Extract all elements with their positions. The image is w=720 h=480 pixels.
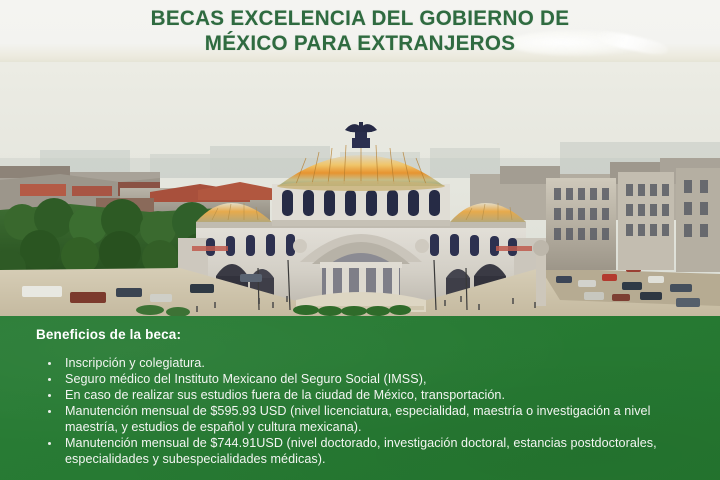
list-item: Seguro médico del Instituto Mexicano del… xyxy=(46,372,696,388)
flyer-header: BECAS EXCELENCIA DEL GOBIERNO DE MÉXICO … xyxy=(0,0,720,62)
page-title: BECAS EXCELENCIA DEL GOBIERNO DE MÉXICO … xyxy=(0,6,720,56)
list-item: En caso de realizar sus estudios fuera d… xyxy=(46,388,696,404)
title-line-2: MÉXICO PARA EXTRANJEROS xyxy=(14,31,705,56)
title-line-1: BECAS EXCELENCIA DEL GOBIERNO DE xyxy=(14,6,705,31)
scholarship-flyer: BECAS EXCELENCIA DEL GOBIERNO DE MÉXICO … xyxy=(0,0,720,480)
list-item: Manutención mensual de $595.93 USD (nive… xyxy=(46,404,696,435)
photo-illustration xyxy=(0,62,720,316)
palacio-bellas-artes-photo xyxy=(0,62,720,316)
list-item: Inscripción y colegiatura. xyxy=(46,356,696,372)
benefits-heading: Beneficios de la beca: xyxy=(36,327,181,342)
benefits-list: Inscripción y colegiatura. Seguro médico… xyxy=(46,356,696,468)
list-item: Manutención mensual de $744.91USD (nivel… xyxy=(46,436,696,467)
benefits-section: Beneficios de la beca: Inscripción y col… xyxy=(0,316,720,480)
